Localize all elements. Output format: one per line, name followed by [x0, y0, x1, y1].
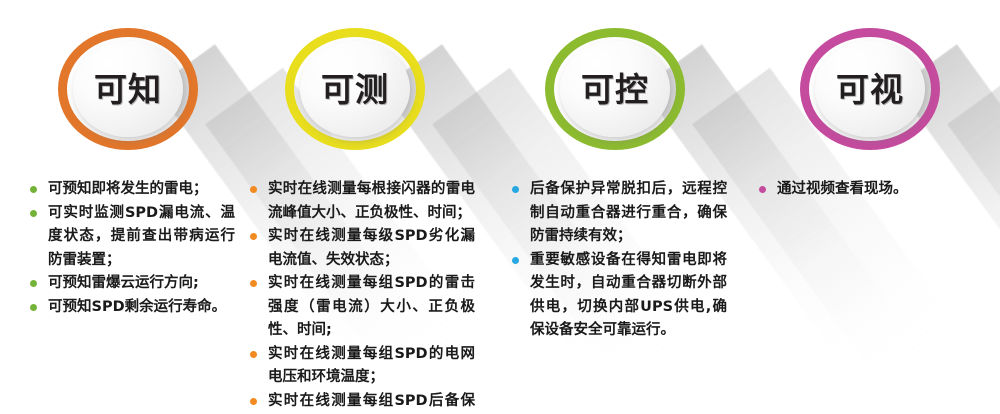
bullet-dot-icon — [30, 304, 37, 311]
bullet-item: 可预知雷爆云运行方向; — [30, 272, 235, 296]
bullet-item: 后备保护异常脱扣后，远程控制自动重合器进行重合，确保防雷持续有效； — [512, 178, 727, 249]
bullet-column-kece: 实时在线测量每根接闪器的雷电流峰值大小、正负极性、时间；实时在线测量每级SPD劣… — [250, 178, 475, 414]
bullet-list-keshi: 通过视频查看现场。 — [759, 178, 969, 202]
bullet-item: 可实时监测SPD漏电流、温度状态，提前查出带病运行防雷装置； — [30, 202, 235, 273]
badge-inner-keshi: 可视 — [815, 41, 925, 137]
bullet-text: 实时在线测量每组SPD的电网电压和环境温度； — [268, 346, 475, 386]
bullet-item: 重要敏感设备在得知雷电即将发生时，自动重合器切断外部供电，切换内部UPS供电,确… — [512, 249, 727, 343]
bullet-list-kekong: 后备保护异常脱扣后，远程控制自动重合器进行重合，确保防雷持续有效；重要敏感设备在… — [512, 178, 727, 343]
badge-label-kece: 可测 — [321, 73, 389, 106]
bullet-dot-icon — [759, 186, 766, 193]
bullet-text: 实时在线测量每级SPD劣化漏电流值、失效状态； — [268, 228, 475, 268]
badge-inner-kece: 可测 — [300, 41, 410, 137]
bullet-dot-icon — [250, 280, 257, 287]
bullet-item: 可预知即将发生的雷电； — [30, 178, 235, 202]
badge-label-kekong: 可控 — [581, 73, 649, 106]
badge-label-kezhi: 可知 — [94, 73, 162, 106]
badge-kece[interactable]: 可测 — [285, 28, 425, 150]
bullet-item: 通过视频查看现场。 — [759, 178, 969, 202]
bullet-item: 实时在线测量每组SPD的电网电压和环境温度； — [250, 343, 475, 390]
bullet-item: 可预知SPD剩余运行寿命。 — [30, 296, 235, 320]
bullet-text: 通过视频查看现场。 — [777, 181, 908, 197]
badge-kezhi[interactable]: 可知 — [58, 28, 198, 150]
bullet-column-kezhi: 可预知即将发生的雷电；可实时监测SPD漏电流、温度状态，提前查出带病运行防雷装置… — [30, 178, 235, 319]
badge-label-keshi: 可视 — [836, 73, 904, 106]
bullet-text: 实时在线测量每根接闪器的雷电流峰值大小、正负极性、时间； — [268, 181, 475, 221]
bullet-text: 可预知即将发生的雷电； — [48, 181, 208, 197]
bullet-dot-icon — [30, 210, 37, 217]
bullet-list-kece: 实时在线测量每根接闪器的雷电流峰值大小、正负极性、时间；实时在线测量每级SPD劣… — [250, 178, 475, 414]
bullet-text: 可实时监测SPD漏电流、温度状态，提前查出带病运行防雷装置； — [48, 205, 235, 268]
badge-inner-kekong: 可控 — [560, 41, 670, 137]
bullet-list-kezhi: 可预知即将发生的雷电；可实时监测SPD漏电流、温度状态，提前查出带病运行防雷装置… — [30, 178, 235, 319]
bullet-dot-icon — [250, 398, 257, 405]
bullet-item: 实时在线测量每组SPD的雷击强度（雷电流）大小、正负极性、时间; — [250, 272, 475, 343]
bullet-item: 实时在线测量每根接闪器的雷电流峰值大小、正负极性、时间； — [250, 178, 475, 225]
bullet-dot-icon — [250, 233, 257, 240]
bullet-text: 实时在线测量每组SPD的雷击强度（雷电流）大小、正负极性、时间; — [268, 275, 475, 338]
bullet-dot-icon — [250, 186, 257, 193]
bullet-text: 实时在线测量每组SPD后备保护器状态。 — [268, 393, 475, 414]
bullet-dot-icon — [30, 280, 37, 287]
bullet-column-keshi: 通过视频查看现场。 — [759, 178, 969, 202]
badge-keshi[interactable]: 可视 — [800, 28, 940, 150]
bullet-text: 可预知SPD剩余运行寿命。 — [48, 299, 226, 315]
badge-inner-kezhi: 可知 — [73, 41, 183, 137]
bullet-dot-icon — [30, 186, 37, 193]
bullet-item: 实时在线测量每组SPD后备保护器状态。 — [250, 390, 475, 414]
bullet-dot-icon — [512, 257, 519, 264]
badge-kekong[interactable]: 可控 — [545, 28, 685, 150]
bullet-text: 后备保护异常脱扣后，远程控制自动重合器进行重合，确保防雷持续有效； — [530, 181, 727, 244]
bullet-column-kekong: 后备保护异常脱扣后，远程控制自动重合器进行重合，确保防雷持续有效；重要敏感设备在… — [512, 178, 727, 343]
bullet-text: 可预知雷爆云运行方向; — [48, 275, 199, 291]
bullet-dot-icon — [250, 351, 257, 358]
bullet-dot-icon — [512, 186, 519, 193]
bullet-item: 实时在线测量每级SPD劣化漏电流值、失效状态； — [250, 225, 475, 272]
infographic-canvas: 可知 可测 可控 可视 可预知即将发生的雷电；可实时监测SPD漏电流、温度状态，… — [0, 0, 1000, 414]
bullet-text: 重要敏感设备在得知雷电即将发生时，自动重合器切断外部供电，切换内部UPS供电,确… — [530, 252, 727, 339]
long-shadow-4b — [947, 68, 1000, 391]
